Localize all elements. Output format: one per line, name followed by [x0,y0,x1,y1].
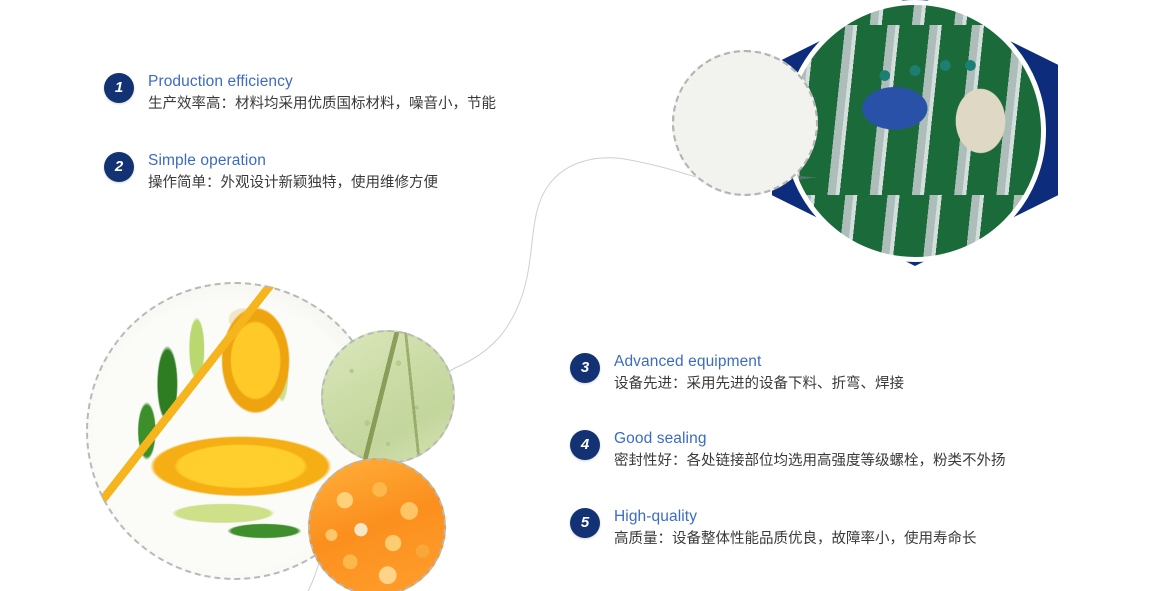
feature-heading-5: High-quality [614,507,977,527]
feature-number-badge-4: 4 [570,430,600,460]
feature-text-5: High-quality 高质量：设备整体性能品质优良，故障率小，使用寿命长 [614,507,977,550]
feature-description-3: 设备先进：采用先进的设备下料、折弯、焊接 [614,373,904,395]
feature-description-4: 密封性好：各处链接部位均选用高强度等级螺栓，粉类不外扬 [614,450,1006,472]
feature-text-3: Advanced equipment 设备先进：采用先进的设备下料、折弯、焊接 [614,352,904,395]
feature-text-1: Production efficiency 生产效率高：材料均采用优质国标材料，… [148,72,496,115]
feature-text-2: Simple operation 操作简单：外观设计新颖独特，使用维修方便 [148,151,438,194]
milling-equipment-photo [672,50,818,196]
feature-description-1: 生产效率高：材料均采用优质国标材料，噪音小，节能 [148,93,496,115]
feature-heading-3: Advanced equipment [614,352,904,372]
feature-infographic-page: 1 Production efficiency 生产效率高：材料均采用优质国标材… [0,0,1154,591]
corn-flour-photo [321,330,455,464]
feature-heading-4: Good sealing [614,429,1006,449]
feature-description-5: 高质量：设备整体性能品质优良，故障率小，使用寿命长 [614,528,977,550]
feature-item-2: 2 Simple operation 操作简单：外观设计新颖独特，使用维修方便 [104,151,438,194]
feature-heading-1: Production efficiency [148,72,496,92]
flour-milling-plant-photo [784,0,1046,262]
corn-grits-photo [308,458,446,591]
milling-plant-image-cluster [660,0,1154,284]
corn-image-cluster [86,282,476,591]
feature-item-3: 3 Advanced equipment 设备先进：采用先进的设备下料、折弯、焊… [570,352,904,395]
feature-heading-2: Simple operation [148,151,438,171]
feature-item-5: 5 High-quality 高质量：设备整体性能品质优良，故障率小，使用寿命长 [570,507,977,550]
feature-item-4: 4 Good sealing 密封性好：各处链接部位均选用高强度等级螺栓，粉类不… [570,429,1006,472]
feature-text-4: Good sealing 密封性好：各处链接部位均选用高强度等级螺栓，粉类不外扬 [614,429,1006,472]
feature-item-1: 1 Production efficiency 生产效率高：材料均采用优质国标材… [104,72,496,115]
feature-number-badge-5: 5 [570,508,600,538]
feature-number-badge-3: 3 [570,353,600,383]
feature-number-badge-1: 1 [104,73,134,103]
feature-number-badge-2: 2 [104,152,134,182]
feature-description-2: 操作简单：外观设计新颖独特，使用维修方便 [148,172,438,194]
